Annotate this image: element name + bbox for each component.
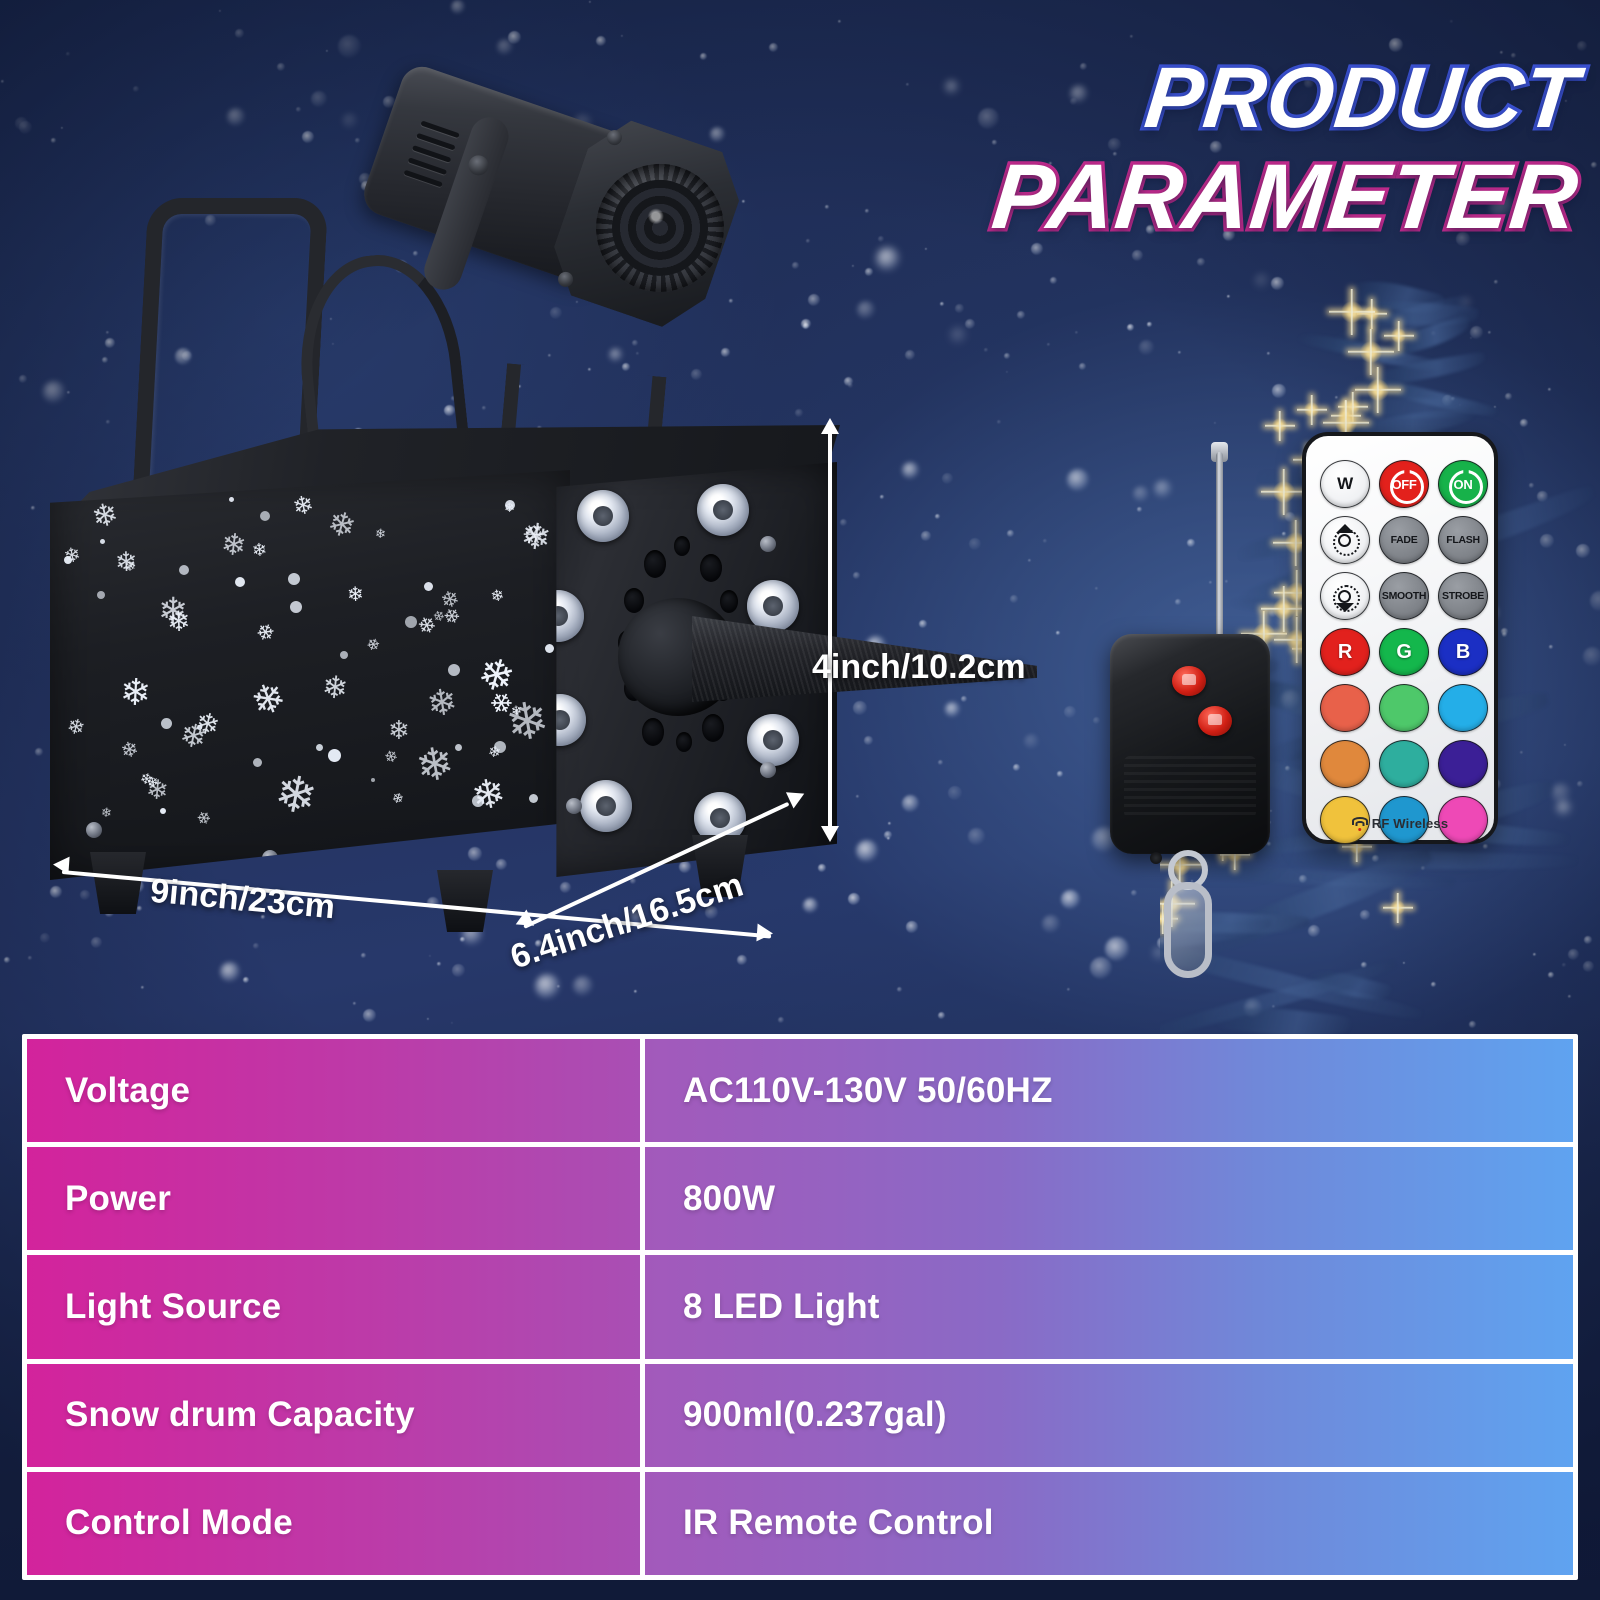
rf-keyfob-transmitter [1098,452,1288,912]
led-lamp [747,580,799,632]
product-infographic: PRODUCT PARAMETER ❄❄❄❄❄❄❄❄❄❄❄❄❄❄❄❄❄❄❄❄❄❄… [0,0,1600,1600]
headline-line-parameter: PARAMETER [989,154,1583,241]
remote-color-swatch-12[interactable] [1320,684,1370,732]
remote-button-b[interactable]: B [1438,628,1488,676]
screw-icon [262,850,278,866]
remote-button-flash[interactable]: FLASH [1438,516,1488,564]
remote-color-swatch-14[interactable] [1438,684,1488,732]
specification-table: VoltageAC110V-130V 50/60HZPower800WLight… [22,1034,1578,1580]
spec-key: Power [27,1147,640,1250]
remote-color-swatch-17[interactable] [1438,740,1488,788]
ir-remote-control: WOFFONFADEFLASHSMOOTHSTROBERGB RF Wirele… [1302,432,1498,844]
key-clip [1164,882,1212,978]
headline-line-product: PRODUCT [989,58,1582,140]
keyfob-button-on[interactable] [1172,666,1206,696]
spec-value: 900ml(0.237gal) [645,1364,1573,1467]
led-lamp [577,490,629,542]
remote-color-swatch-16[interactable] [1379,740,1429,788]
rf-wireless-label: RF Wireless [1372,816,1449,831]
remote-color-swatch-15[interactable] [1320,740,1370,788]
headline-block: PRODUCT PARAMETER [993,58,1578,241]
table-row: Control ModeIR Remote Control [27,1472,1573,1575]
remote-button-off[interactable]: OFF [1379,460,1429,508]
indicator-led-icon [1150,852,1162,864]
machine-side-panel: ❄❄❄❄❄❄❄❄❄❄❄❄❄❄❄❄❄❄❄❄❄❄❄❄❄❄❄❄❄❄❄❄❄❄❄❄❄❄❄❄… [50,470,570,880]
spec-value: 800W [645,1147,1573,1250]
remote-button-brightness-down[interactable] [1320,572,1370,620]
vent-slots-icon [400,120,460,197]
remote-button-smooth[interactable]: SMOOTH [1379,572,1429,620]
remote-button-g[interactable]: G [1379,628,1429,676]
spec-value: IR Remote Control [645,1472,1573,1575]
keyfob-button-off[interactable] [1198,706,1232,736]
remote-button-strobe[interactable]: STROBE [1438,572,1488,620]
remote-button-on[interactable]: ON [1438,460,1488,508]
keyfob-housing [1110,634,1270,854]
table-row: Snow drum Capacity900ml(0.237gal) [27,1364,1573,1467]
remote-color-swatch-13[interactable] [1379,684,1429,732]
snow-machine-product-photo: ❄❄❄❄❄❄❄❄❄❄❄❄❄❄❄❄❄❄❄❄❄❄❄❄❄❄❄❄❄❄❄❄❄❄❄❄❄❄❄❄… [32,70,1042,900]
spec-value: 8 LED Light [645,1255,1573,1358]
led-lamp [747,714,799,766]
wifi-icon [1352,817,1368,829]
spec-value: AC110V-130V 50/60HZ [645,1039,1573,1142]
rf-wireless-footer: RF Wireless [1306,816,1494,831]
spec-key: Snow drum Capacity [27,1364,640,1467]
remote-button-fade[interactable]: FADE [1379,516,1429,564]
table-row: VoltageAC110V-130V 50/60HZ [27,1039,1573,1142]
spec-key: Control Mode [27,1472,640,1575]
telescopic-antenna [1216,452,1223,642]
remote-button-w[interactable]: W [1320,460,1370,508]
remote-button-r[interactable]: R [1320,628,1370,676]
remote-button-grid: WOFFONFADEFLASHSMOOTHSTROBERGB [1320,460,1488,844]
spec-key: Voltage [27,1039,640,1142]
bottom-band [0,1580,1600,1600]
screw-icon [86,822,102,838]
led-lamp [697,484,749,536]
screw-icon [450,842,466,858]
table-row: Light Source8 LED Light [27,1255,1573,1358]
table-row: Power800W [27,1147,1573,1250]
spec-key: Light Source [27,1255,640,1358]
led-lamp [580,780,632,832]
dimension-height-label: 4inch/10.2cm [812,648,1026,687]
remote-button-brightness-up[interactable] [1320,516,1370,564]
